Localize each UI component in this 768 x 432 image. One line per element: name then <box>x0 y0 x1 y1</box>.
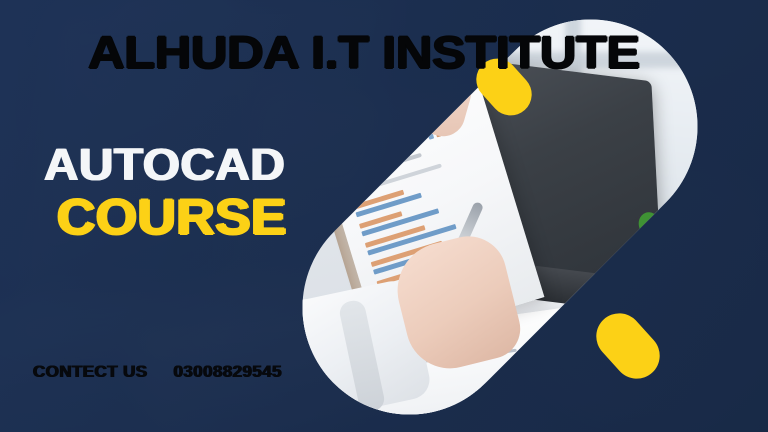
contact-row: CONTECT US 03008829545 <box>33 362 282 382</box>
course-title-block: AUTOCAD COURSE <box>44 142 274 243</box>
contact-phone-number[interactable]: 03008829545 <box>174 362 282 382</box>
course-title-course: COURSE <box>57 192 287 243</box>
course-title-autocad: AUTOCAD <box>44 142 288 188</box>
contact-label: CONTECT US <box>33 362 148 382</box>
institute-headline: ALHUDA I.T INSTITUTE <box>88 30 640 75</box>
poster-canvas: ALHUDA I.T INSTITUTE AUTOCAD COURSE CONT… <box>0 0 768 432</box>
